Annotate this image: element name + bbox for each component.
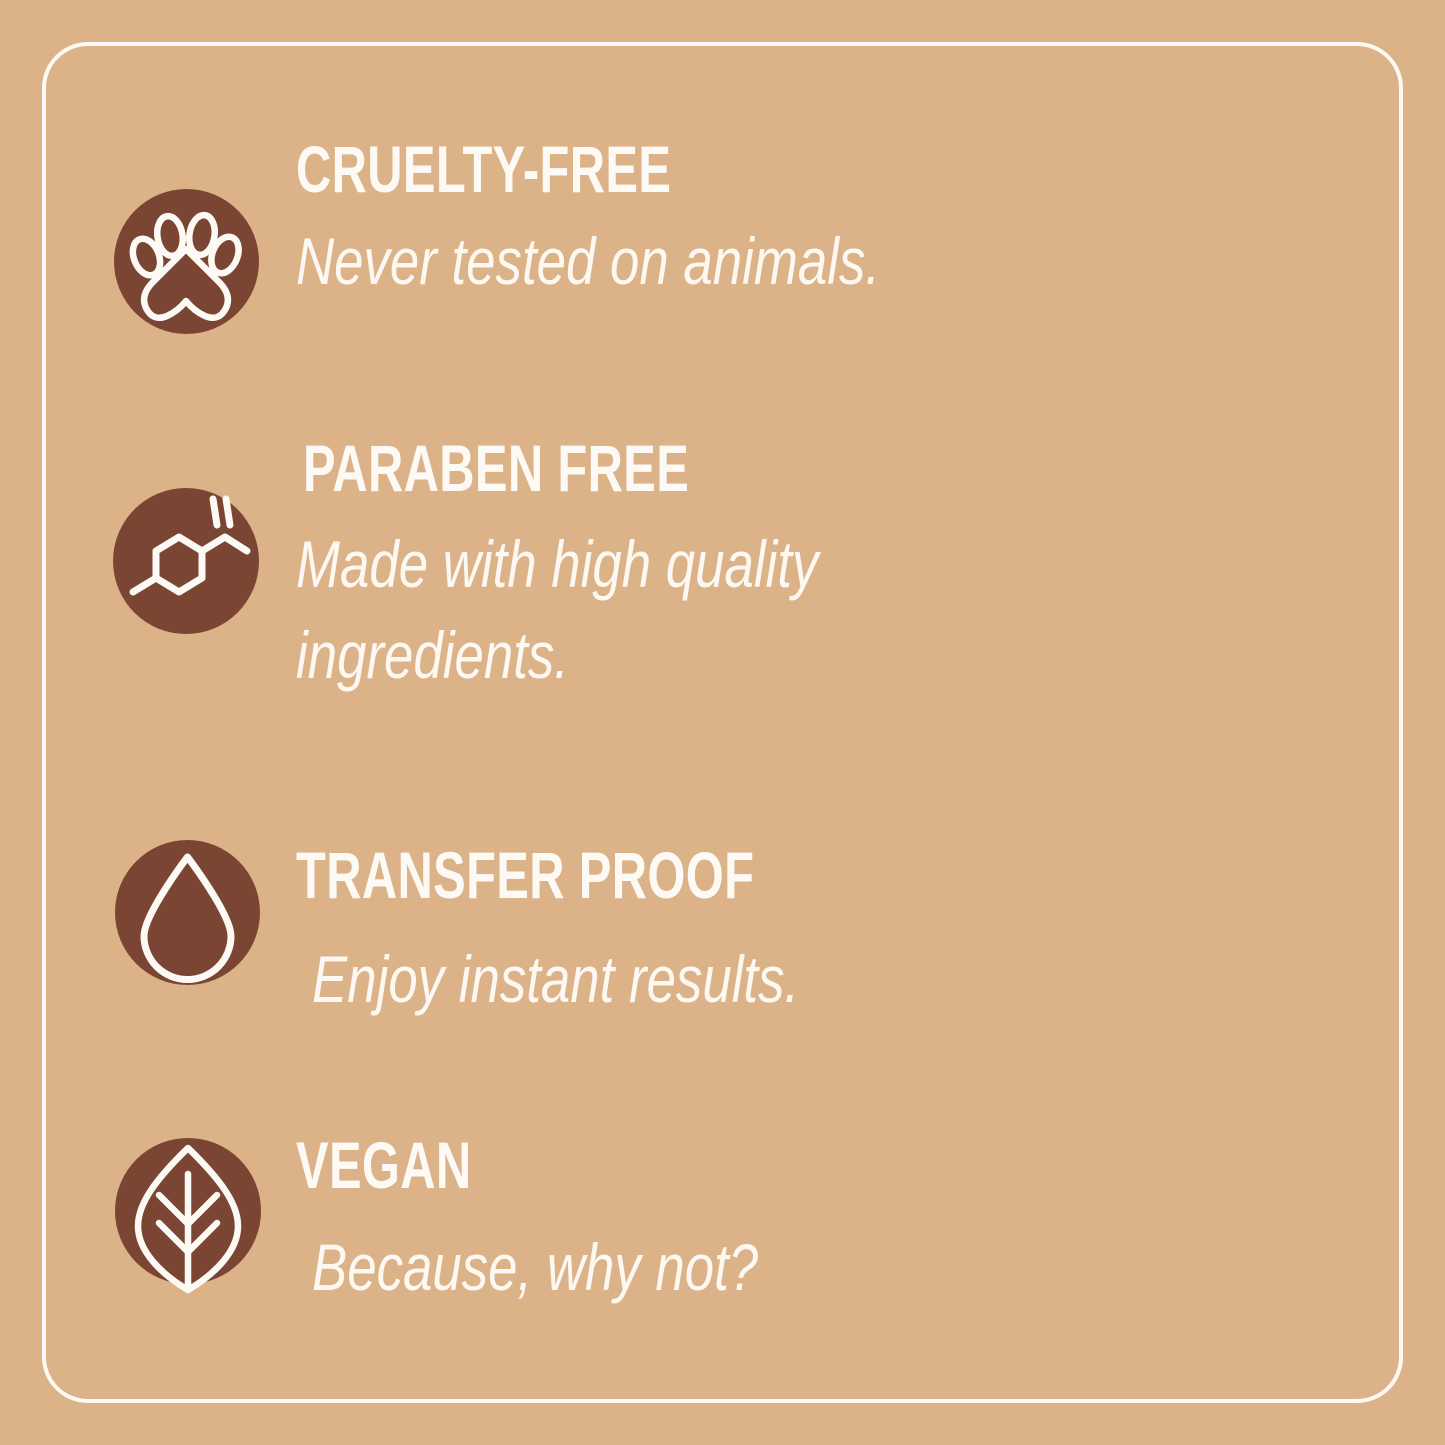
transfer-proof-text-block: TRANSFER PROOF Enjoy instant results. (296, 842, 1296, 1025)
water-drop-icon (115, 840, 260, 985)
leaf-icon (115, 1138, 261, 1284)
feature-description-paraben-free: Made with high quality ingredients. (296, 519, 1054, 701)
molecule-icon-badge (113, 488, 259, 634)
cruelty-free-text-block: CRUELTY-FREE Never tested on animals. (296, 136, 1296, 307)
vegan-text-block: VEGAN Because, why not? (296, 1132, 1296, 1313)
feature-title-paraben-free: PARABEN FREE (303, 435, 999, 501)
product-benefits-graphic: CRUELTY-FREE Never tested on animals. (0, 0, 1445, 1445)
feature-description-cruelty-free: Never tested on animals. (296, 216, 1096, 307)
paw-icon-badge (114, 189, 259, 334)
feature-title-vegan: VEGAN (296, 1132, 1036, 1198)
water-drop-icon-badge (115, 840, 260, 985)
feature-description-transfer-proof: Enjoy instant results. (312, 934, 1099, 1025)
feature-title-cruelty-free: CRUELTY-FREE (296, 136, 1036, 202)
paw-icon (114, 189, 259, 334)
feature-description-vegan: Because, why not? (312, 1222, 1099, 1313)
leaf-icon-badge (115, 1138, 261, 1284)
molecule-icon (113, 488, 259, 634)
feature-title-transfer-proof: TRANSFER PROOF (296, 842, 1036, 908)
paraben-free-text-block: PARABEN FREE Made with high quality ingr… (303, 435, 1243, 701)
